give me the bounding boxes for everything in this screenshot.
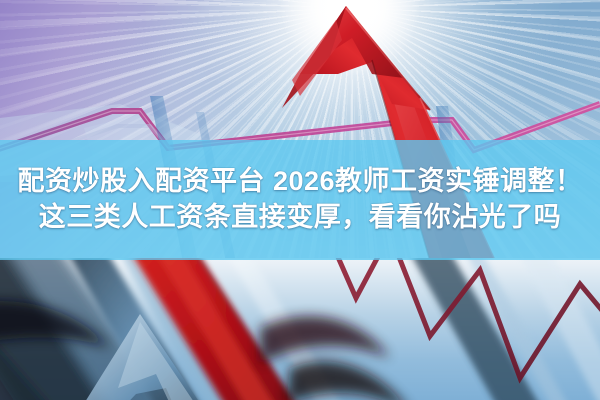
caption-line-1: 配资炒股入配资平台 2026教师工资实锤调整！ [17,166,582,198]
caption-line-2: 这三类人工资条直接变厚，看看你沾光了吗 [39,202,562,234]
banner-image: 配资炒股入配资平台 2026教师工资实锤调整！ 这三类人工资条直接变厚，看看你沾… [0,0,600,400]
caption-text-block: 配资炒股入配资平台 2026教师工资实锤调整！ 这三类人工资条直接变厚，看看你沾… [0,140,600,260]
lower-abstract-panel [0,258,600,400]
diagonal-stripes [0,258,600,400]
